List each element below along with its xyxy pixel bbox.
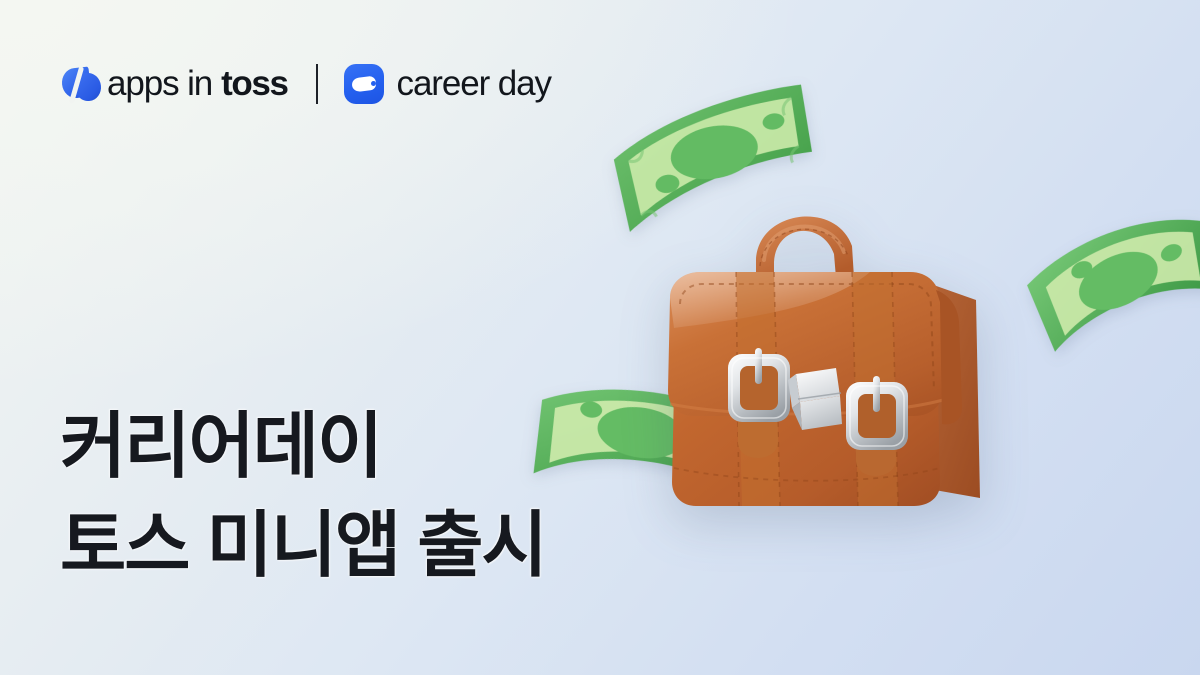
brand-heavy-text: toss xyxy=(221,64,287,104)
headline-line-2: 토스 미니앱 출시 xyxy=(60,497,546,596)
apps-in-toss-wordmark: apps intoss xyxy=(107,64,288,104)
promo-banner: apps intoss career day 커리어데이 토스 미니앱 출시 xyxy=(0,0,1200,675)
buckle-left-icon xyxy=(728,348,790,422)
logo-bar: apps intoss career day xyxy=(62,58,551,110)
briefcase-handle-icon xyxy=(756,216,854,280)
money-bill-top-left xyxy=(602,77,833,245)
brand-light-text: apps in xyxy=(107,64,212,104)
briefcase-straps xyxy=(736,272,898,506)
toss-split-circle-icon xyxy=(62,65,102,103)
headline: 커리어데이 토스 미니앱 출시 xyxy=(60,398,546,597)
vertical-divider-icon xyxy=(316,64,318,104)
briefcase-icon xyxy=(640,168,1030,523)
career-day-wordmark: career day xyxy=(397,64,551,104)
career-day-gamepad-icon xyxy=(344,64,384,104)
money-bill-bottom-left xyxy=(527,362,759,519)
buckle-right-icon xyxy=(846,376,908,450)
money-bill-right xyxy=(1010,179,1200,386)
apps-in-toss-logo[interactable]: apps intoss xyxy=(62,64,288,104)
headline-line-1: 커리어데이 xyxy=(60,407,381,487)
silver-clasp-icon xyxy=(788,368,842,430)
